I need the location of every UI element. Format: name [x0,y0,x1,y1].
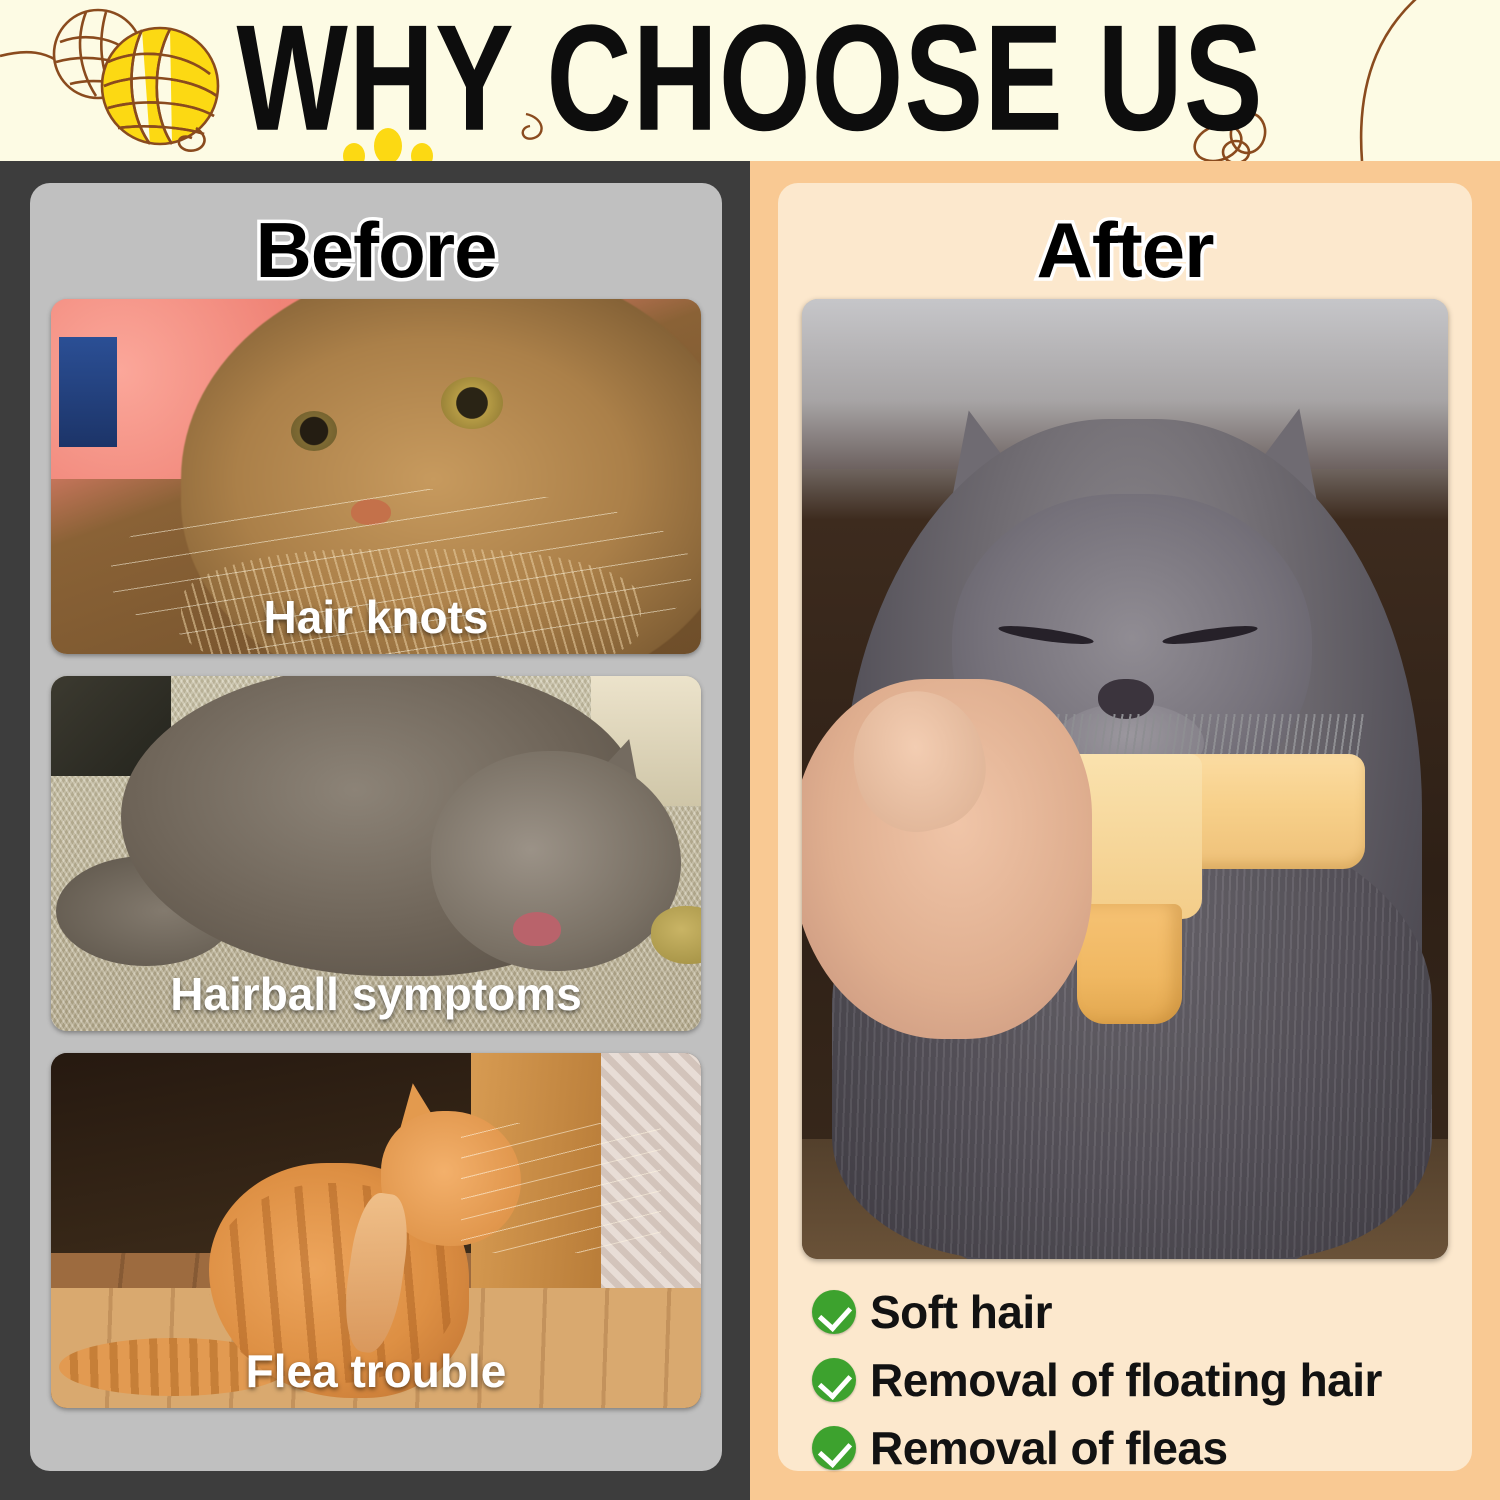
benefit-item: Removal of floating hair [812,1353,1472,1407]
why-choose-us-poster: WHY CHOOSE US Before Hair knots [0,0,1500,1500]
benefit-item: Removal of fleas [812,1421,1472,1475]
after-photo-grooming [802,299,1448,1259]
before-card: Before Hair knots [30,183,722,1471]
before-caption-3: Flea trouble [51,1344,701,1398]
before-photo-fleas: Flea trouble [51,1053,701,1408]
grey-cat-nose [1098,679,1154,719]
brush-handle-knob [1077,904,1182,1024]
orange-cat-whiskers [461,1123,661,1253]
check-circle-icon [812,1290,856,1334]
before-caption-2: Hairball symptoms [51,967,701,1021]
benefit-label: Removal of floating hair [870,1353,1382,1407]
before-caption-1: Hair knots [51,590,701,644]
cat-tongue [513,912,561,946]
benefit-label: Soft hair [870,1285,1052,1339]
cat-eye-left [291,411,337,451]
poster-header: WHY CHOOSE US [0,0,1500,161]
benefit-item: Soft hair [812,1285,1472,1339]
check-circle-icon [812,1358,856,1402]
after-card: After [778,183,1472,1471]
before-photo-hair-knots: Hair knots [51,299,701,654]
cat-eye-right [441,377,503,429]
benefits-list: Soft hair Removal of floating hair Remov… [778,1259,1472,1475]
before-panel: Before Hair knots [0,161,750,1500]
before-heading: Before [30,183,722,299]
check-circle-icon [812,1426,856,1470]
after-panel: After [750,161,1500,1500]
before-photo-hairball: Hairball symptoms [51,676,701,1031]
photo-background-screen [59,337,117,447]
page-title: WHY CHOOSE US [0,0,1500,161]
benefit-label: Removal of fleas [870,1421,1228,1475]
after-heading: After [778,183,1472,299]
